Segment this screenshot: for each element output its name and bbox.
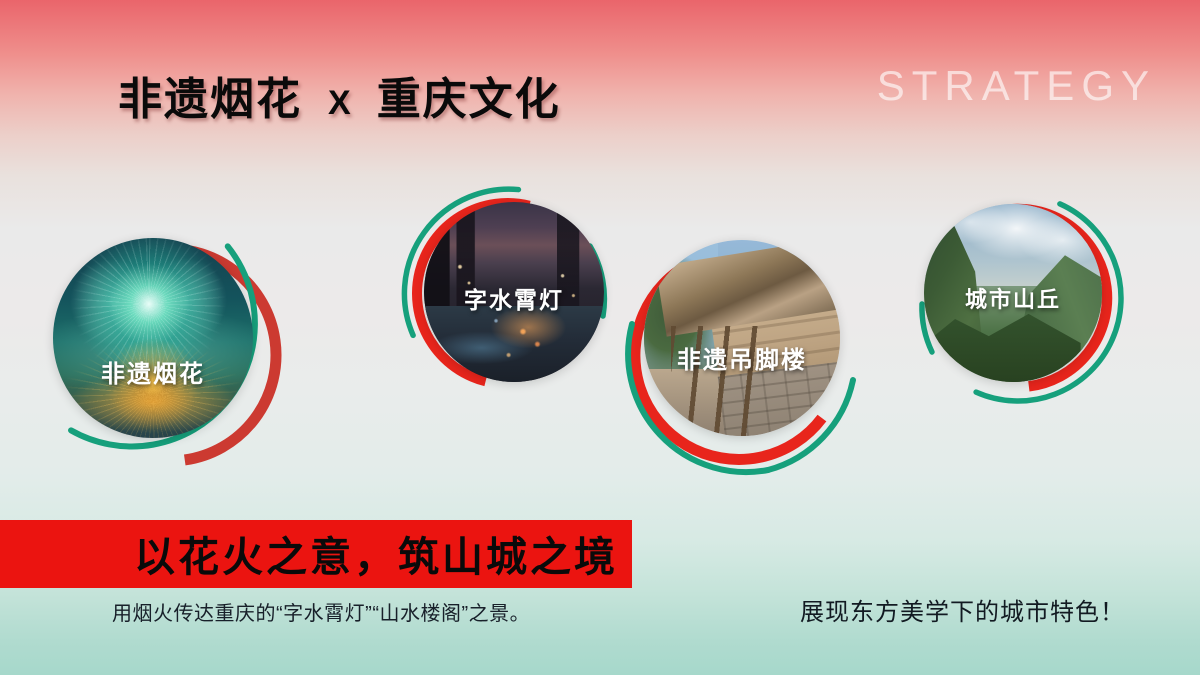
circle-4-label: 城市山丘 xyxy=(924,282,1102,314)
circle-3-photo: 非遗吊脚楼 xyxy=(644,240,840,436)
circle-4-photo: 城市山丘 xyxy=(924,204,1102,382)
circle-3-label: 非遗吊脚楼 xyxy=(644,340,840,375)
firework-burst-rays-icon xyxy=(53,238,253,438)
headline-text: 以花火之意，筑山城之境 xyxy=(134,523,618,583)
caption-left: 用烟火传达重庆的“字水霄灯”“山水楼阁”之景。 xyxy=(112,597,530,626)
circle-2-label: 字水霄灯 xyxy=(424,281,604,315)
headline-banner: 以花火之意，筑山城之境 xyxy=(0,520,632,588)
circle-item-4[interactable]: 城市山丘 xyxy=(912,192,1124,404)
watermark-strategy: STRATEGY xyxy=(877,62,1156,110)
circle-item-3[interactable]: 非遗吊脚楼 xyxy=(618,232,862,476)
circle-item-2[interactable]: 字水霄灯 xyxy=(400,186,615,401)
caption-right: 展现东方美学下的城市特色！ xyxy=(800,592,1125,627)
circle-2-photo: 字水霄灯 xyxy=(424,202,604,382)
circle-1-label: 非遗烟花 xyxy=(53,354,253,389)
circle-item-1[interactable]: 非遗烟花 xyxy=(45,230,295,480)
slide-canvas: 非遗烟花X重庆文化 STRATEGY 非遗烟花 字水霄灯 xyxy=(0,0,1200,675)
title-left-text: 非遗烟花 xyxy=(118,75,302,124)
circle-1-photo: 非遗烟花 xyxy=(53,238,253,438)
page-title: 非遗烟花X重庆文化 xyxy=(118,63,561,127)
title-separator: X xyxy=(302,84,377,122)
title-right-text: 重庆文化 xyxy=(377,75,561,124)
